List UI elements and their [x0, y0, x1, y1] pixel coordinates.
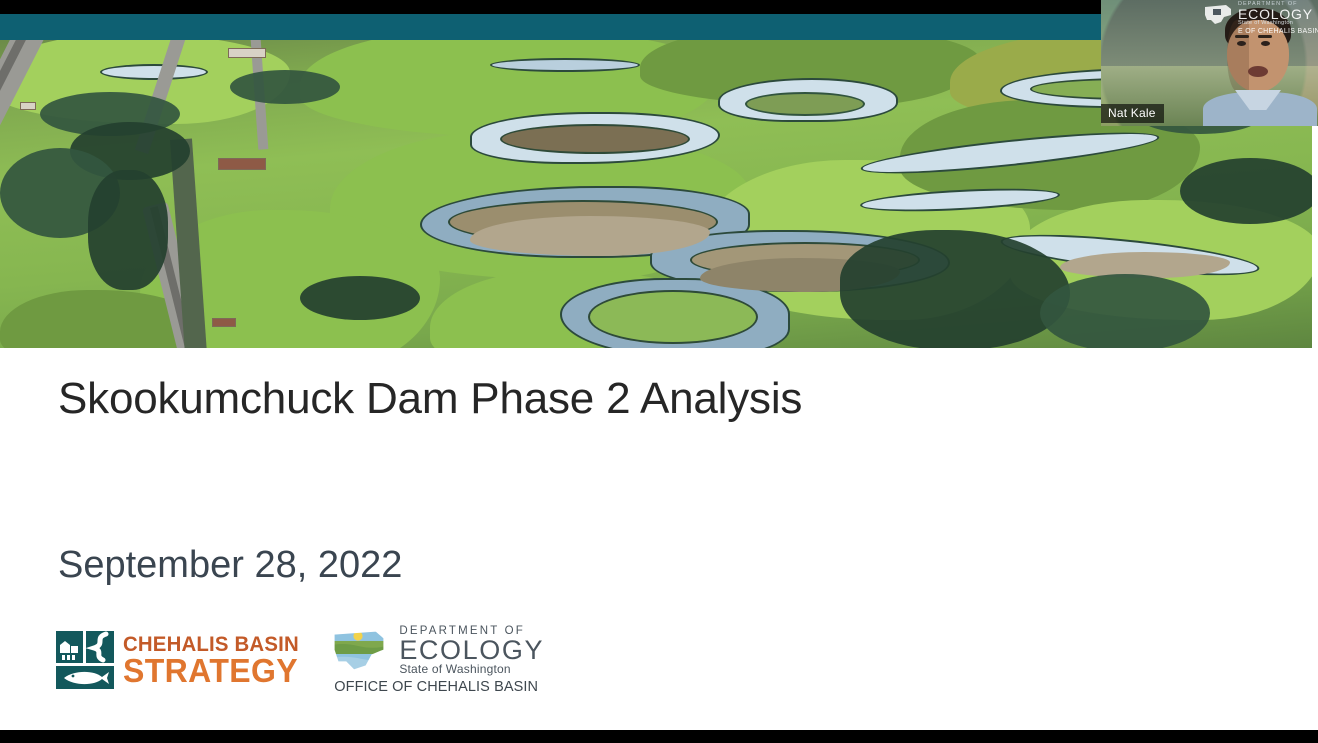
- meeting-screen-share-window: Skookumchuck Dam Phase 2 Analysis Septem…: [0, 0, 1318, 743]
- bottom-letterbox-bar: [0, 730, 1318, 743]
- watermark-line1: ECOLOGY: [1238, 8, 1318, 21]
- slide-date: September 28, 2022: [58, 544, 402, 587]
- slide-logo-row: CHEHALIS BASIN STRATEGY: [56, 626, 544, 695]
- chehalis-basin-strategy-logo: CHEHALIS BASIN STRATEGY: [56, 631, 304, 689]
- presentation-slide: Skookumchuck Dam Phase 2 Analysis Septem…: [0, 40, 1318, 730]
- participant-video-tile[interactable]: DEPARTMENT OF ECOLOGY State of Washingto…: [1101, 0, 1318, 126]
- chehalis-logo-line2: STRATEGY: [123, 655, 299, 686]
- ecology-logo-subtitle: OFFICE OF CHEHALIS BASIN: [334, 679, 538, 695]
- washington-state-outline-icon: [1202, 3, 1234, 25]
- watermark-line3: E OF CHEHALIS BASIN: [1238, 28, 1318, 35]
- buildings-icon: [56, 631, 83, 663]
- video-ecology-watermark: DEPARTMENT OF ECOLOGY State of Washingto…: [1238, 2, 1318, 35]
- salmon-icon: [56, 666, 114, 689]
- ecology-logo-line2: ECOLOGY: [399, 638, 544, 664]
- slide-title: Skookumchuck Dam Phase 2 Analysis: [58, 374, 802, 424]
- river-icon: [86, 631, 114, 663]
- washington-state-outline-icon: [328, 628, 390, 674]
- chehalis-basin-strategy-icon: [56, 631, 114, 689]
- participant-name-label: Nat Kale: [1101, 104, 1164, 123]
- ecology-logo-line3: State of Washington: [399, 663, 544, 675]
- watermark-line2: State of Washington: [1238, 21, 1318, 27]
- ecology-office-of-chehalis-basin-logo: DEPARTMENT OF ECOLOGY State of Washingto…: [328, 626, 544, 695]
